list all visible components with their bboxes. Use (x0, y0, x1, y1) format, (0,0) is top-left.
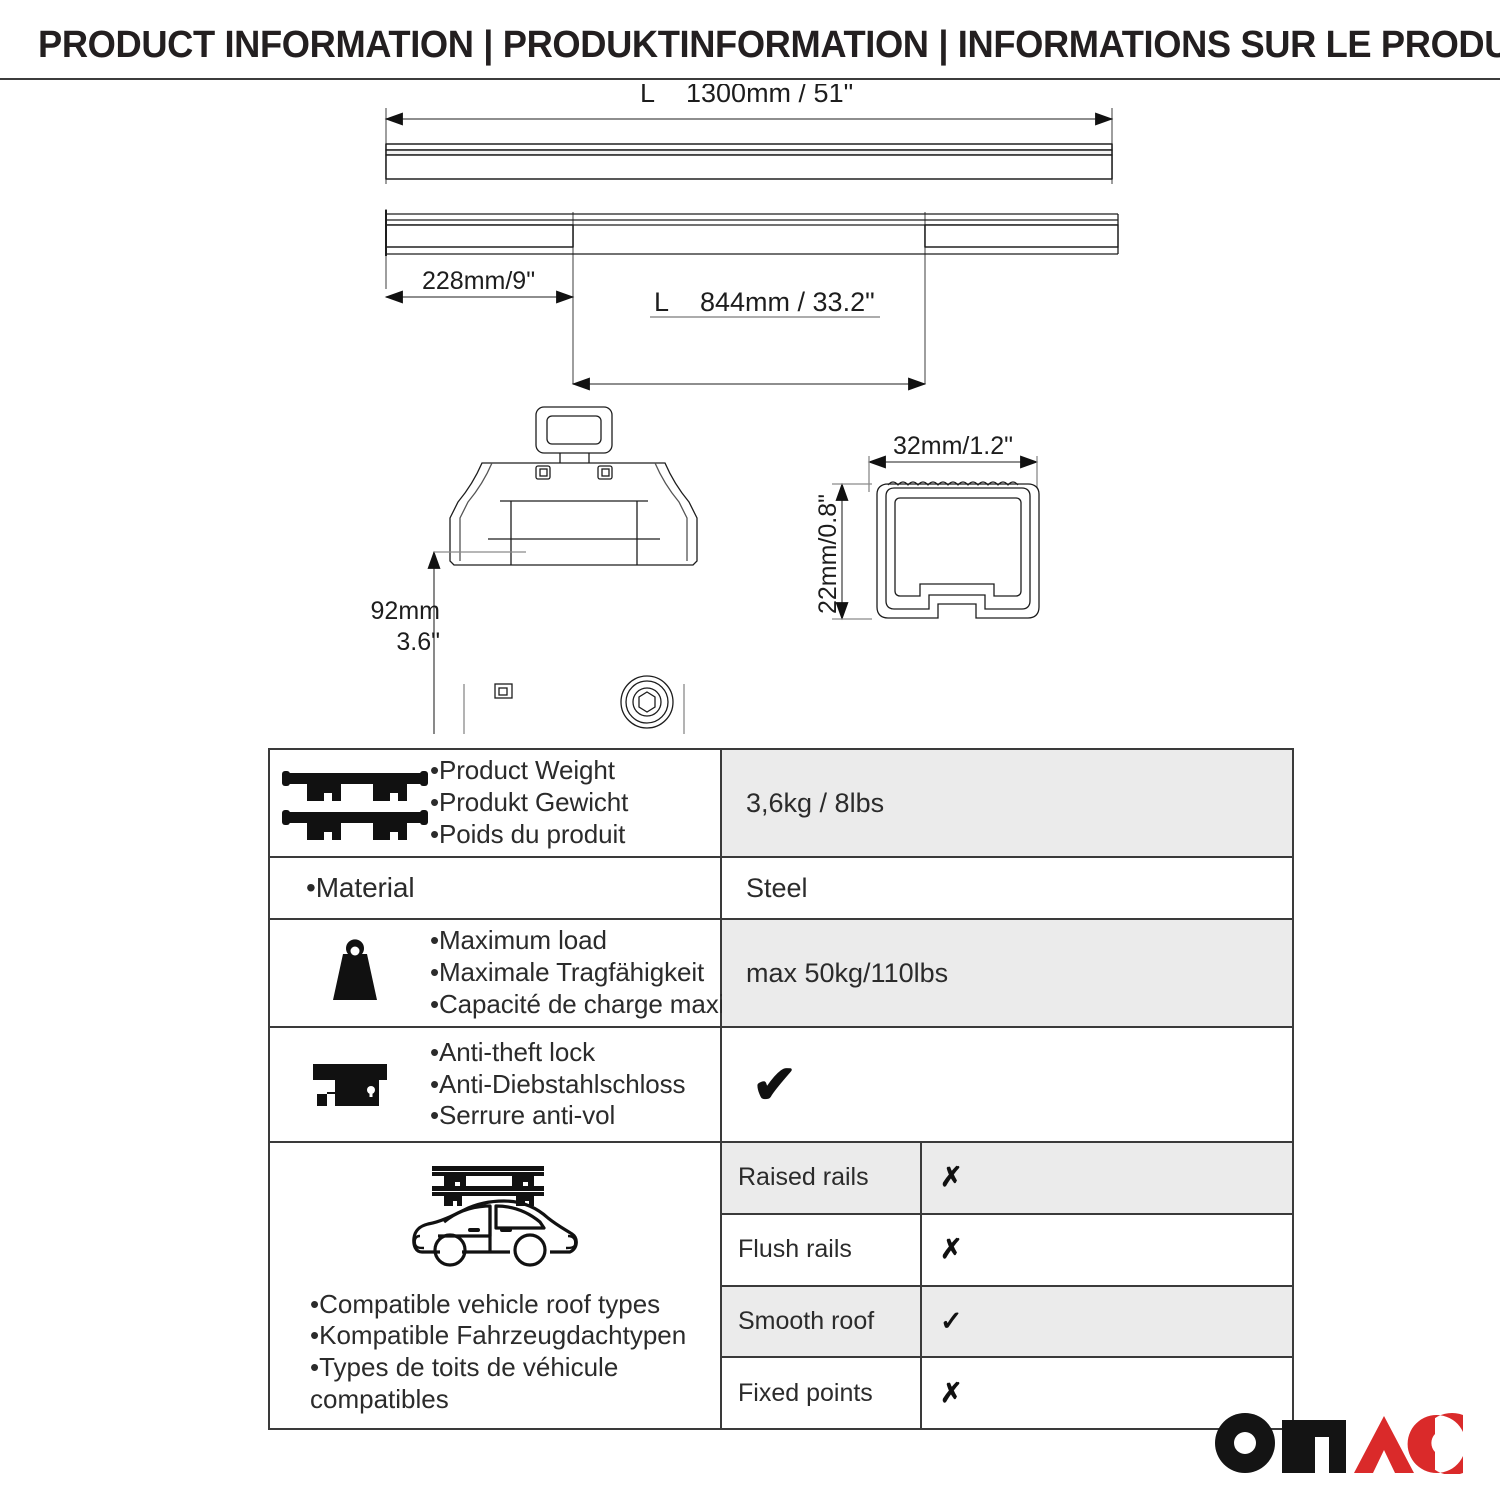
roof-type-status-icon: ✗ (922, 1143, 1292, 1213)
roof-type-status-icon: ✗ (922, 1215, 1292, 1285)
technical-drawing: L 1300mm / 51" 228mm/9" L 844mm / 33.2" … (0, 84, 1500, 734)
spec-label-line: •Anti-theft lock (430, 1037, 685, 1069)
roof-label-line: compatibles (310, 1384, 712, 1416)
spec-label-cell: •Material (270, 858, 722, 918)
logo-letter-a (1354, 1416, 1414, 1473)
roof-types-subtable: Raised rails ✗ Flush rails ✗ Smooth roof… (722, 1143, 1292, 1428)
spec-label-line: •Serrure anti-vol (430, 1100, 685, 1132)
page-title: PRODUCT INFORMATION | PRODUKTINFORMATION… (38, 24, 1404, 67)
roof-label-line: •Types de toits de véhicule (310, 1352, 712, 1384)
foot-height-dim-line2: 3.6" (396, 628, 440, 656)
bar-length-dim-label: L (640, 84, 655, 108)
roof-label-line: •Kompatible Fahrzeugdachtypen (310, 1320, 712, 1352)
roof-type-name: Raised rails (722, 1143, 922, 1213)
profile-height-dim-value: 22mm/0.8" (814, 494, 842, 614)
bar-length-dim-value: 1300mm / 51" (686, 84, 853, 108)
roof-type-name: Fixed points (722, 1358, 922, 1428)
car-with-roof-rack-icon (400, 1156, 590, 1283)
end-offset-dim-value: 228mm/9" (422, 267, 535, 295)
table-row: •Product Weight •Produkt Gewicht •Poids … (270, 750, 1292, 858)
spec-label-line: •Anti-Diebstahlschloss (430, 1069, 685, 1101)
roof-label-line: •Compatible vehicle roof types (310, 1289, 712, 1321)
spec-label-line: •Poids du produit (430, 819, 628, 851)
spec-label-cell: •Anti-theft lock •Anti-Diebstahlschloss … (270, 1028, 722, 1141)
table-row: •Maximum load •Maximale Tragfähigkeit •C… (270, 920, 1292, 1028)
foot-height-dim-line1: 92mm (371, 597, 440, 625)
roof-type-row-smooth-roof: Smooth roof ✓ (722, 1287, 1292, 1359)
spec-value-material: Steel (722, 858, 1292, 918)
weight-icon (280, 936, 430, 1010)
roof-types-label-cell: •Compatible vehicle roof types •Kompatib… (270, 1143, 722, 1428)
spec-label-line: •Produkt Gewicht (430, 787, 628, 819)
roof-type-row-raised-rails: Raised rails ✗ (722, 1143, 1292, 1215)
span-dim-value: 844mm / 33.2" (700, 287, 875, 317)
table-row: •Material Steel (270, 858, 1292, 920)
lock-icon (280, 1054, 430, 1116)
profile-width-dim-value: 32mm/1.2" (893, 432, 1013, 460)
check-icon: ✔ (752, 1058, 797, 1112)
roof-type-row-fixed-points: Fixed points ✗ (722, 1358, 1292, 1428)
logo-letter-m (1282, 1420, 1346, 1473)
omac-logo (1214, 1412, 1466, 1474)
table-row: •Anti-theft lock •Anti-Diebstahlschloss … (270, 1028, 1292, 1143)
spec-label-text: •Product Weight •Produkt Gewicht •Poids … (430, 755, 628, 850)
table-row: •Compatible vehicle roof types •Kompatib… (270, 1143, 1292, 1428)
logo-letter-c (1408, 1413, 1463, 1474)
spec-label-line: •Product Weight (430, 755, 628, 787)
spec-label-text: •Material (306, 871, 415, 905)
two-crossbars-icon (280, 765, 430, 841)
spec-label-line: •Material (306, 871, 415, 905)
roof-types-label-text: •Compatible vehicle roof types •Kompatib… (278, 1289, 712, 1416)
spec-label-cell: •Maximum load •Maximale Tragfähigkeit •C… (270, 920, 722, 1026)
roof-type-status-icon: ✓ (922, 1287, 1292, 1357)
spec-label-text: •Anti-theft lock •Anti-Diebstahlschloss … (430, 1037, 685, 1132)
product-spec-table: •Product Weight •Produkt Gewicht •Poids … (268, 748, 1294, 1430)
title-divider (0, 78, 1500, 80)
roof-type-name: Flush rails (722, 1215, 922, 1285)
span-dim-label: L (654, 287, 669, 317)
spec-value-anti-theft: ✔ (722, 1028, 1292, 1141)
roof-type-name: Smooth roof (722, 1287, 922, 1357)
roof-type-row-flush-rails: Flush rails ✗ (722, 1215, 1292, 1287)
spec-label-cell: •Product Weight •Produkt Gewicht •Poids … (270, 750, 722, 856)
spec-value-weight: 3,6kg / 8lbs (722, 750, 1292, 856)
spec-value-max-load: max 50kg/110lbs (722, 920, 1292, 1026)
